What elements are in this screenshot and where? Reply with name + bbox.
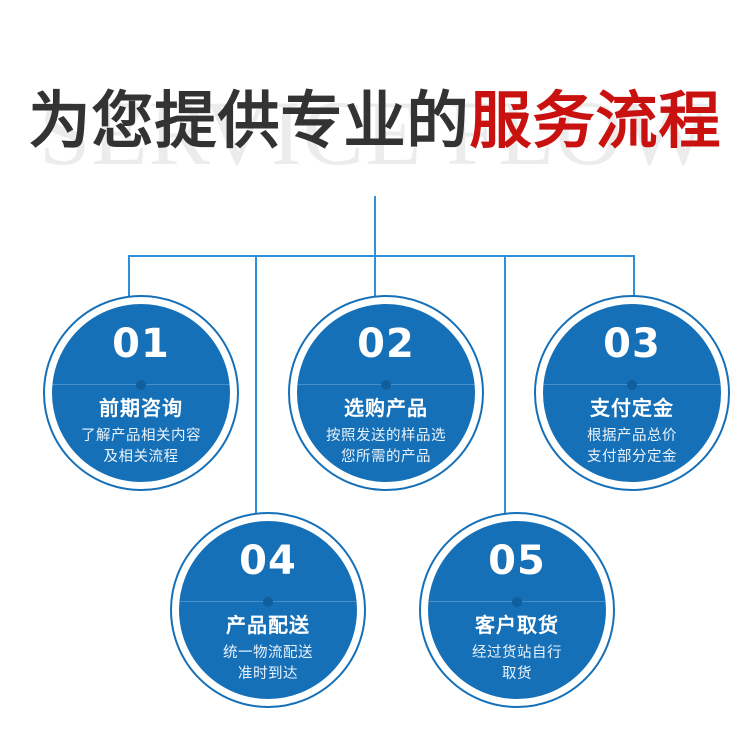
step-title-05: 客户取货 xyxy=(428,613,606,637)
step-node-01[interactable]: 01 前期咨询 了解产品相关内容 及相关流程 xyxy=(43,295,239,491)
step-desc-line-05b: 取货 xyxy=(436,664,598,685)
title-dark-segment: 为您提供专业的 xyxy=(28,84,469,157)
step-number-03: 03 xyxy=(543,324,721,364)
step-node-02-body: 02 选购产品 按照发送的样品选 您所需的产品 xyxy=(294,301,478,485)
step-divider-dot-05 xyxy=(512,597,522,607)
step-desc-line-01b: 及相关流程 xyxy=(60,447,222,468)
step-node-03-body: 03 支付定金 根据产品总价 支付部分定金 xyxy=(540,301,724,485)
step-number-02: 02 xyxy=(297,324,475,364)
step-description-04: 统一物流配送 准时到达 xyxy=(179,643,357,685)
step-title-02: 选购产品 xyxy=(297,396,475,420)
page-title: SERVICE FLOW 为您提供专业的服务流程 xyxy=(0,78,750,188)
step-description-01: 了解产品相关内容 及相关流程 xyxy=(52,426,230,468)
step-divider-dot-01 xyxy=(136,380,146,390)
step-desc-line-05a: 经过货站自行 xyxy=(436,643,598,664)
step-desc-line-02b: 您所需的产品 xyxy=(305,447,467,468)
step-node-03[interactable]: 03 支付定金 根据产品总价 支付部分定金 xyxy=(534,295,730,491)
step-number-05: 05 xyxy=(428,541,606,581)
flow-diagram-canvas: SERVICE FLOW 为您提供专业的服务流程 01 前期咨询 了解产品相关内… xyxy=(0,0,750,750)
step-description-05: 经过货站自行 取货 xyxy=(428,643,606,685)
step-desc-line-03a: 根据产品总价 xyxy=(551,426,713,447)
step-node-05-body: 05 客户取货 经过货站自行 取货 xyxy=(425,518,609,702)
step-desc-line-04b: 准时到达 xyxy=(187,664,349,685)
step-number-04: 04 xyxy=(179,541,357,581)
step-node-05[interactable]: 05 客户取货 经过货站自行 取货 xyxy=(419,512,615,708)
step-node-01-body: 01 前期咨询 了解产品相关内容 及相关流程 xyxy=(49,301,233,485)
step-desc-line-04a: 统一物流配送 xyxy=(187,643,349,664)
step-description-03: 根据产品总价 支付部分定金 xyxy=(543,426,721,468)
step-desc-line-03b: 支付部分定金 xyxy=(551,447,713,468)
step-node-04-body: 04 产品配送 统一物流配送 准时到达 xyxy=(176,518,360,702)
step-description-02: 按照发送的样品选 您所需的产品 xyxy=(297,426,475,468)
step-desc-line-02a: 按照发送的样品选 xyxy=(305,426,467,447)
step-node-02[interactable]: 02 选购产品 按照发送的样品选 您所需的产品 xyxy=(288,295,484,491)
step-divider-dot-04 xyxy=(263,597,273,607)
connector-stem-vertical xyxy=(374,196,376,256)
step-node-04[interactable]: 04 产品配送 统一物流配送 准时到达 xyxy=(170,512,366,708)
connector-bus-horizontal xyxy=(128,255,635,257)
connector-drop-step-05 xyxy=(504,255,506,530)
step-title-04: 产品配送 xyxy=(179,613,357,637)
step-title-01: 前期咨询 xyxy=(52,396,230,420)
step-number-01: 01 xyxy=(52,324,230,364)
step-divider-dot-02 xyxy=(381,380,391,390)
step-divider-dot-03 xyxy=(627,380,637,390)
title-heading: 为您提供专业的服务流程 xyxy=(0,90,750,152)
step-desc-line-01a: 了解产品相关内容 xyxy=(60,426,222,447)
connector-drop-step-04 xyxy=(255,255,257,530)
step-title-03: 支付定金 xyxy=(543,396,721,420)
title-red-segment: 服务流程 xyxy=(470,84,722,157)
